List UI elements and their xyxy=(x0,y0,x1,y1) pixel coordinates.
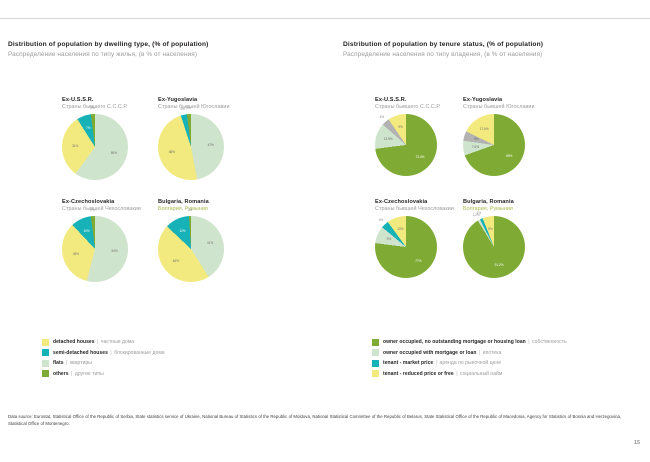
pie-chart[interactable]: 77%9%4%10% xyxy=(375,216,437,278)
panel-title-dwelling-ru: Распределение населения по типу жилья, (… xyxy=(8,50,209,60)
pie-wrap: 41%46%12%1% xyxy=(158,216,224,282)
chart-heading: Ex-Czechoslovakia Страны бывшей Чехослов… xyxy=(62,199,141,214)
pie-slice-label: 10% xyxy=(83,229,89,233)
chart-dwelling-ex-ussr: Ex-U.S.S.R. Страны бывшего С.С.С.Р. 60%3… xyxy=(62,97,128,180)
pie-slice-label: 2% xyxy=(90,106,95,110)
chart-title-en: Bulgaria, Romania xyxy=(463,199,525,206)
pie-slice-label: 77% xyxy=(415,259,421,263)
panel-title-tenure-ru: Распределение населения по типу владения… xyxy=(343,50,543,60)
pie-slice-label: 5% xyxy=(488,227,493,231)
pie-wrap: 69%7.6%5%17.6% xyxy=(463,114,535,176)
legend-label-ru: квартиры xyxy=(70,360,92,366)
legend-label-ru: блокированные дома xyxy=(114,350,164,356)
pie-wrap: 54%34%10%2% xyxy=(62,216,141,282)
legend-swatch-icon xyxy=(42,370,49,377)
legend-separator: | xyxy=(528,339,529,345)
chart-heading: Ex-U.S.S.R. Страны бывшего С.С.С.Р. xyxy=(375,97,441,112)
chart-dwelling-ex-yugoslavia: Ex-Yugoslavia Страны бывшей Югославии 47… xyxy=(158,97,230,180)
pie-slice-label: 9% xyxy=(398,125,403,129)
legend-swatch-icon xyxy=(372,349,379,356)
pie-slice-label: 46% xyxy=(173,259,179,263)
chart-title-ru: Страны бывшей Югославии xyxy=(463,104,535,111)
pie-chart[interactable]: 73.4%13.5%4%9% xyxy=(375,114,437,176)
legend-swatch-icon xyxy=(42,360,49,367)
pie-chart[interactable]: 41%46%12%1% xyxy=(158,216,224,282)
chart-heading: Bulgaria, Romania Болгария, Румыния xyxy=(463,199,525,214)
chart-title-ru: Страны бывшей Чехословакии xyxy=(62,206,141,213)
legend-swatch-icon xyxy=(42,349,49,356)
legend-label-en: others xyxy=(53,371,69,377)
panel-title-tenure-en: Distribution of population by tenure sta… xyxy=(343,40,543,50)
legend-swatch-icon xyxy=(372,339,379,346)
pie-chart[interactable]: 54%34%10%2% xyxy=(62,216,128,282)
legend-label-ru: ипотека xyxy=(483,350,502,356)
pie-slice-label: 47% xyxy=(208,143,214,147)
pie-wrap: 91.2%1.2%1%5% xyxy=(463,216,525,278)
pie-slice-label: 1% xyxy=(188,208,193,212)
pie-slice-label: 9% xyxy=(387,237,392,241)
panel-title-tenure: Distribution of population by tenure sta… xyxy=(343,40,543,60)
pie-slice-label: 60% xyxy=(111,151,117,155)
legend-label-ru: социальный найм xyxy=(460,371,502,377)
legend-tenure: owner occupied, no outstanding mortgage … xyxy=(372,338,567,380)
source-note: Data source: Eurostat, Statistical Offic… xyxy=(8,414,636,427)
chart-title-ru: Страны бывшей Югославии xyxy=(158,104,230,111)
pie-chart[interactable]: 91.2%1.2%1%5% xyxy=(463,216,525,278)
pie-wrap: 60%31%7%2% xyxy=(62,114,128,180)
chart-title-ru: Страны бывшей Чехословакии xyxy=(375,206,454,213)
legend-separator: | xyxy=(66,360,67,366)
legend-label-ru: собственность xyxy=(532,339,567,345)
chart-title-ru: Страны бывшего С.С.С.Р. xyxy=(375,104,441,111)
legend-tenure-item[interactable]: owner occupied with mortgage or loan|ипо… xyxy=(372,349,567,357)
chart-tenure-ex-yugoslavia: Ex-Yugoslavia Страны бывшей Югославии 69… xyxy=(463,97,535,176)
legend-separator: | xyxy=(71,371,72,377)
pie-slice-label: 34% xyxy=(73,252,79,256)
legend-label-en: owner occupied, no outstanding mortgage … xyxy=(383,339,526,345)
legend-separator: | xyxy=(456,371,457,377)
legend-separator: | xyxy=(97,339,98,345)
pie-wrap: 73.4%13.5%4%9% xyxy=(375,114,441,176)
legend-label-ru: другие типы xyxy=(75,371,104,377)
chart-tenure-ex-czechoslovakia: Ex-Czechoslovakia Страны бывшей Чехослов… xyxy=(375,199,454,278)
pie-slice-label: 48% xyxy=(169,150,175,154)
legend-separator: | xyxy=(436,360,437,366)
chart-dwelling-bulgaria-romania: Bulgaria, Romania Болгария, Румыния 41%4… xyxy=(158,199,224,282)
legend-tenure-item[interactable]: tenant - market price|аренда по рыночной… xyxy=(372,359,567,367)
pie-chart[interactable]: 69%7.6%5%17.6% xyxy=(463,114,525,176)
pie-slice-label: 13.5% xyxy=(384,137,393,141)
pie-slice-label: 31% xyxy=(72,144,78,148)
legend-label-ru: частные дома xyxy=(101,339,134,345)
legend-label-en: flats xyxy=(53,360,64,366)
pie-slice-label: 4% xyxy=(380,115,385,119)
pie-chart[interactable]: 60%31%7%2% xyxy=(62,114,128,180)
chart-heading: Ex-Yugoslavia Страны бывшей Югославии xyxy=(463,97,535,112)
chart-heading: Ex-Yugoslavia Страны бывшей Югославии xyxy=(158,97,230,112)
legend-separator: | xyxy=(479,350,480,356)
pie-wrap: 77%9%4%10% xyxy=(375,216,454,278)
legend-swatch-icon xyxy=(372,370,379,377)
pie-slice-label: 17.6% xyxy=(480,127,489,131)
pie-slice-label: 54% xyxy=(112,249,118,253)
legend-label-en: tenant - reduced price or free xyxy=(383,371,454,377)
legend-swatch-icon xyxy=(42,339,49,346)
pie-slice-label: 2% xyxy=(186,106,191,110)
pie-slice-label: 41% xyxy=(207,241,213,245)
pie-slice-label: 5% xyxy=(474,137,479,141)
legend-label-ru: аренда по рыночной цене xyxy=(440,360,501,366)
legend-dwelling-item[interactable]: detached houses|частные дома xyxy=(42,338,165,346)
legend-dwelling-item[interactable]: others|другие типы xyxy=(42,370,165,378)
pie-slice-label: 3% xyxy=(180,107,185,111)
pie-slice-label: 10% xyxy=(397,227,403,231)
legend-swatch-icon xyxy=(372,360,379,367)
pie-slice-label: 2% xyxy=(90,208,95,212)
pie-slice-label: 69% xyxy=(506,154,512,158)
chart-title-en: Bulgaria, Romania xyxy=(158,199,224,206)
infographic-page: Distribution of population by dwelling t… xyxy=(0,0,650,462)
chart-tenure-ex-ussr: Ex-U.S.S.R. Страны бывшего С.С.С.Р. 73.4… xyxy=(375,97,441,176)
chart-title-en: Ex-U.S.S.R. xyxy=(375,97,441,104)
pie-slice-label: 4% xyxy=(379,218,384,222)
pie-slice-label: 1% xyxy=(477,211,482,215)
pie-wrap: 47%48%3%2% xyxy=(158,114,230,180)
legend-label-en: owner occupied with mortgage or loan xyxy=(383,350,476,356)
pie-slice-label: 12% xyxy=(179,229,185,233)
pie-slice-label: 91.2% xyxy=(495,263,504,267)
legend-tenure-item[interactable]: tenant - reduced price or free|социальны… xyxy=(372,370,567,378)
legend-label-en: tenant - market price xyxy=(383,360,433,366)
legend-dwelling-item[interactable]: flats|квартиры xyxy=(42,359,165,367)
legend-dwelling: detached houses|частные домаsemi-detache… xyxy=(42,338,165,380)
chart-dwelling-ex-czechoslovakia: Ex-Czechoslovakia Страны бывшей Чехослов… xyxy=(62,199,141,282)
chart-heading: Ex-Czechoslovakia Страны бывшей Чехослов… xyxy=(375,199,454,214)
panel-title-dwelling: Distribution of population by dwelling t… xyxy=(8,40,209,60)
pie-slice-label: 7.6% xyxy=(472,145,479,149)
chart-title-en: Ex-U.S.S.R. xyxy=(62,97,128,104)
legend-tenure-item[interactable]: owner occupied, no outstanding mortgage … xyxy=(372,338,567,346)
legend-label-en: semi-detached houses xyxy=(53,350,108,356)
panel-title-dwelling-en: Distribution of population by dwelling t… xyxy=(8,40,209,50)
pie-slice-label: 73.4% xyxy=(416,155,425,159)
pie-chart[interactable]: 47%48%3%2% xyxy=(158,114,224,180)
legend-separator: | xyxy=(110,350,111,356)
pie-slice-label: 7% xyxy=(86,126,91,130)
legend-dwelling-item[interactable]: semi-detached houses|блокированные дома xyxy=(42,349,165,357)
top-divider xyxy=(0,18,650,19)
legend-label-en: detached houses xyxy=(53,339,95,345)
page-number: 15 xyxy=(634,440,640,446)
chart-tenure-bulgaria-romania: Bulgaria, Romania Болгария, Румыния 91.2… xyxy=(463,199,525,278)
